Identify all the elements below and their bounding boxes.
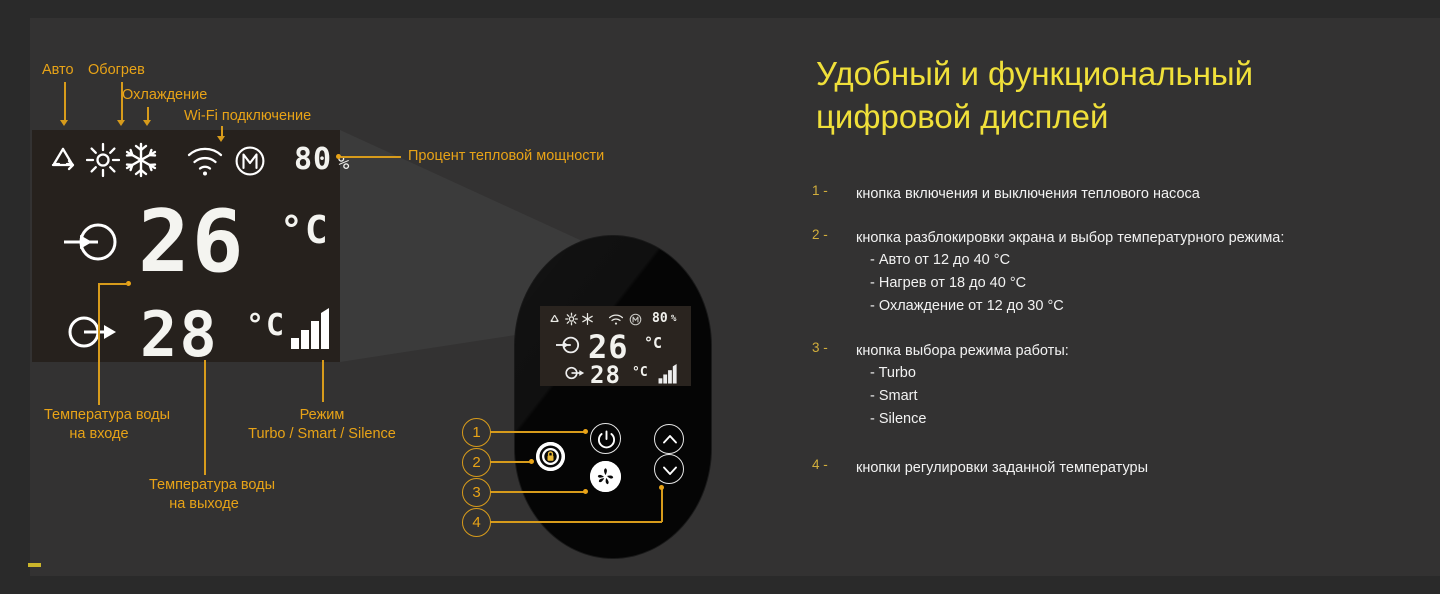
leader-cool-arrow (143, 120, 151, 126)
left-frame (0, 0, 30, 594)
label-outlet-line1: Температура воды (149, 477, 259, 493)
callout-1-dot (583, 429, 588, 434)
leader-inlet-v (98, 283, 100, 405)
page-title-line1: Удобный и функциональный (816, 52, 1376, 95)
callout-4-leader-v (661, 488, 663, 522)
list-item: 1 - кнопка включения и выключения теплов… (812, 183, 1392, 205)
accent-bar (28, 563, 41, 567)
mini-heat-power-value: 80 (652, 311, 668, 326)
mini-signal-strength-icon (658, 364, 680, 384)
controller-device (515, 236, 711, 558)
mini-water-outlet-icon (564, 364, 588, 382)
large-display-panel: 80 % 26 °C 28 °C (32, 130, 340, 362)
list-item: 2 - кнопка разблокировки экрана и выбор … (812, 227, 1392, 318)
water-outlet-icon (66, 310, 124, 354)
mini-wifi-icon (608, 314, 624, 326)
fan-icon (590, 461, 621, 492)
list-item: 4 - кнопки регулировки заданной температ… (812, 457, 1392, 479)
page-title-line2: цифровой дисплей (816, 95, 1376, 138)
label-mode-line1: Режим (232, 407, 412, 423)
label-inlet-line1: Температура воды (44, 407, 154, 423)
list-item-number: 3 - (812, 340, 828, 355)
device-mini-display: 80 % 26 °C 28 °C (540, 306, 691, 386)
label-cool: Охлаждение (122, 87, 207, 103)
outlet-temperature-unit: °C (246, 308, 286, 343)
fan-mode-button[interactable] (590, 461, 621, 492)
list-subitem: - Turbo (870, 362, 1392, 385)
page-title: Удобный и функциональный цифровой диспле… (816, 52, 1376, 138)
mini-snowflake-icon (581, 312, 594, 326)
display-status-icon-row: 80 % (46, 140, 340, 184)
list-subitem: - Авто от 12 до 40 °C (870, 249, 1392, 272)
temp-up-button[interactable] (654, 424, 684, 454)
leader-wifi-arrow (217, 136, 225, 142)
sun-icon (86, 142, 120, 178)
temp-down-button[interactable] (654, 454, 684, 484)
inlet-temperature-unit: °C (280, 208, 330, 252)
mini-percent-symbol: % (671, 314, 676, 324)
callout-1: 1 (462, 418, 491, 447)
mini-outlet-temperature-value: 28 (590, 361, 621, 389)
lock-icon (536, 442, 565, 471)
list-item: 3 - кнопка выбора режима работы: - Turbo… (812, 340, 1392, 431)
mini-auto-recycle-icon (548, 313, 562, 326)
leader-power-line (341, 156, 401, 158)
mini-sun-icon (565, 312, 578, 326)
list-item-text: кнопка включения и выключения теплового … (856, 183, 1392, 205)
callout-2: 2 (462, 448, 491, 477)
leader-heat-arrow (117, 120, 125, 126)
lock-button[interactable] (536, 442, 565, 471)
feature-list: 1 - кнопка включения и выключения теплов… (812, 183, 1392, 482)
chevron-down-icon (655, 455, 685, 485)
callout-2-leader (490, 461, 532, 463)
m-circle-icon (234, 145, 266, 177)
list-subitem: - Нагрев от 18 до 40 °C (870, 272, 1392, 295)
list-item-number: 1 - (812, 183, 828, 198)
list-item-text: кнопки регулировки заданной температуры (856, 457, 1392, 479)
list-subitem: - Silence (870, 408, 1392, 431)
list-item-text: кнопка разблокировки экрана и выбор темп… (856, 227, 1392, 249)
leader-mode-v (322, 360, 324, 402)
label-mode-line2: Turbo / Smart / Silence (232, 426, 412, 442)
inlet-temperature-value: 26 (138, 192, 246, 292)
callout-2-dot (529, 459, 534, 464)
list-item-text: кнопка выбора режима работы: (856, 340, 1392, 362)
mini-inlet-temperature-unit: °C (644, 334, 662, 352)
callout-4-dot (659, 485, 664, 490)
label-heat-power-percent: Процент тепловой мощности (408, 148, 604, 164)
label-heat: Обогрев (88, 62, 145, 78)
list-item-number: 4 - (812, 457, 828, 472)
leader-auto-arrow (60, 120, 68, 126)
mini-outlet-temperature-unit: °C (632, 365, 648, 380)
list-subitem: - Smart (870, 385, 1392, 408)
leader-inlet-h (98, 283, 128, 285)
page-root: 80 % 26 °C 28 °C Авто Обо (0, 0, 1440, 594)
water-inlet-icon (62, 216, 122, 268)
outlet-temperature-value: 28 (140, 298, 219, 371)
callout-4: 4 (462, 508, 491, 537)
device-gloss (515, 236, 711, 558)
wifi-icon (186, 146, 224, 176)
leader-outlet-v (204, 360, 206, 475)
leader-auto (64, 82, 66, 122)
list-subitem: - Охлаждение от 12 до 30 °C (870, 295, 1392, 318)
callout-3-dot (583, 489, 588, 494)
auto-recycle-icon (46, 144, 82, 176)
callout-1-leader (490, 431, 586, 433)
mini-water-inlet-icon (554, 333, 582, 357)
list-item-number: 2 - (812, 227, 828, 242)
chevron-up-icon (655, 425, 685, 455)
label-wifi: Wi-Fi подключение (184, 108, 311, 124)
label-auto: Авто (42, 62, 74, 78)
callout-3: 3 (462, 478, 491, 507)
label-inlet-line2: на входе (44, 426, 154, 442)
power-button[interactable] (590, 423, 621, 454)
snowflake-icon (123, 142, 159, 178)
callout-3-leader (490, 491, 586, 493)
heat-power-value: 80 (294, 142, 332, 177)
callout-4-leader (490, 521, 662, 523)
label-outlet-line2: на выходе (149, 496, 259, 512)
power-icon (591, 424, 622, 455)
mini-m-circle-icon (629, 313, 642, 326)
signal-strength-icon (290, 308, 336, 350)
